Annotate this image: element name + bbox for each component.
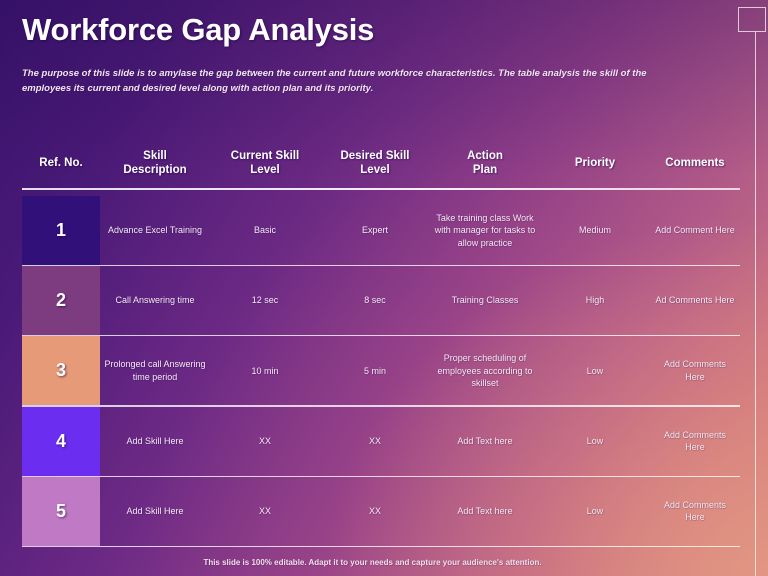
column-header-line2: Level	[250, 163, 279, 177]
table-row[interactable]: 3Prolonged call Answering time period10 …	[22, 336, 740, 405]
cell-desired-skill-level: 8 sec	[320, 266, 430, 335]
column-header-desired-skill-level: Desired Skill Level	[320, 140, 430, 186]
cell-comments: Add Comment Here	[650, 196, 740, 265]
slide-subtitle: The purpose of this slide is to amylase …	[22, 66, 672, 96]
table-row[interactable]: 5Add Skill HereXXXXAdd Text hereLowAdd C…	[22, 477, 740, 546]
cell-current-skill-level-text: XX	[214, 435, 316, 448]
cell-action-plan: Add Text here	[430, 407, 540, 476]
cell-desired-skill-level-text: Expert	[324, 224, 426, 237]
cell-skill-description: Call Answering time	[100, 266, 210, 335]
cell-skill-description-text: Add Skill Here	[104, 505, 206, 518]
cell-skill-description: Prolonged call Answering time period	[100, 336, 210, 405]
cell-action-plan: Take training class Work with manager fo…	[430, 196, 540, 265]
column-header-line1: Action	[467, 149, 503, 163]
cell-current-skill-level: Basic	[210, 196, 320, 265]
column-header-ref-no: Ref. No.	[22, 140, 100, 186]
cell-action-plan: Training Classes	[430, 266, 540, 335]
cell-comments: Add Comments Here	[650, 407, 740, 476]
table-header-row: Ref. No. Skill Description Current Skill…	[22, 140, 740, 186]
cell-current-skill-level: 12 sec	[210, 266, 320, 335]
cell-skill-description-text: Call Answering time	[104, 294, 206, 307]
cell-comments-text: Add Comments Here	[654, 499, 736, 524]
cell-desired-skill-level: XX	[320, 477, 430, 546]
cell-comments-text: Add Comment Here	[654, 224, 736, 237]
column-header-line1: Desired Skill	[340, 149, 409, 163]
column-header-line1: Priority	[575, 156, 615, 170]
cell-current-skill-level-text: 12 sec	[214, 294, 316, 307]
cell-action-plan-text: Training Classes	[434, 294, 536, 307]
row-number-badge: 4	[22, 407, 100, 476]
cell-action-plan-text: Add Text here	[434, 505, 536, 518]
row-number-badge: 1	[22, 196, 100, 265]
cell-desired-skill-level-text: 5 min	[324, 365, 426, 378]
cell-priority: Low	[540, 477, 650, 546]
cell-desired-skill-level: XX	[320, 407, 430, 476]
cell-comments: Ad Comments Here	[650, 266, 740, 335]
cell-desired-skill-level: Expert	[320, 196, 430, 265]
table-header-underline	[22, 188, 740, 190]
cell-action-plan: Add Text here	[430, 477, 540, 546]
slide-canvas: Workforce Gap Analysis The purpose of th…	[0, 0, 768, 576]
column-header-priority: Priority	[540, 140, 650, 186]
cell-priority-text: Medium	[544, 224, 646, 237]
row-number-label: 5	[56, 501, 66, 522]
cell-skill-description: Add Skill Here	[100, 407, 210, 476]
cell-comments: Add Comments Here	[650, 477, 740, 546]
cell-priority: Low	[540, 407, 650, 476]
row-number-badge: 3	[22, 336, 100, 405]
workforce-gap-table: Ref. No. Skill Description Current Skill…	[22, 140, 740, 547]
cell-priority-text: High	[544, 294, 646, 307]
column-header-line2: Plan	[473, 163, 497, 177]
column-header-skill-description: Skill Description	[100, 140, 210, 186]
cell-skill-description-text: Add Skill Here	[104, 435, 206, 448]
corner-square-decoration	[738, 7, 766, 32]
cell-current-skill-level: XX	[210, 477, 320, 546]
row-number-label: 2	[56, 290, 66, 311]
column-header-line2: Level	[360, 163, 389, 177]
cell-current-skill-level: XX	[210, 407, 320, 476]
cell-priority-text: Low	[544, 505, 646, 518]
cell-priority-text: Low	[544, 365, 646, 378]
cell-priority-text: Low	[544, 435, 646, 448]
cell-priority: Low	[540, 336, 650, 405]
table-row[interactable]: 4Add Skill HereXXXXAdd Text hereLowAdd C…	[22, 407, 740, 476]
row-number-label: 4	[56, 431, 66, 452]
row-separator	[22, 546, 740, 547]
cell-current-skill-level-text: Basic	[214, 224, 316, 237]
column-header-comments: Comments	[650, 140, 740, 186]
table-row[interactable]: 2Call Answering time12 sec8 secTraining …	[22, 266, 740, 335]
cell-priority: High	[540, 266, 650, 335]
table-body: 1Advance Excel TrainingBasicExpertTake t…	[22, 196, 740, 547]
column-header-line1: Current Skill	[231, 149, 299, 163]
cell-current-skill-level-text: XX	[214, 505, 316, 518]
cell-skill-description-text: Advance Excel Training	[104, 224, 206, 237]
column-header-line1: Ref. No.	[39, 156, 82, 170]
table-row[interactable]: 1Advance Excel TrainingBasicExpertTake t…	[22, 196, 740, 265]
cell-comments-text: Add Comments Here	[654, 358, 736, 383]
column-header-action-plan: Action Plan	[430, 140, 540, 186]
column-header-line2: Description	[123, 163, 186, 177]
page-title: Workforce Gap Analysis	[22, 12, 374, 48]
row-number-badge: 5	[22, 477, 100, 546]
cell-desired-skill-level-text: XX	[324, 435, 426, 448]
cell-skill-description: Advance Excel Training	[100, 196, 210, 265]
footer-note: This slide is 100% editable. Adapt it to…	[0, 558, 745, 567]
cell-current-skill-level-text: 10 min	[214, 365, 316, 378]
cell-action-plan-text: Proper scheduling of employees according…	[434, 352, 536, 390]
column-header-line1: Skill	[143, 149, 167, 163]
cell-action-plan: Proper scheduling of employees according…	[430, 336, 540, 405]
row-number-label: 1	[56, 220, 66, 241]
column-header-line1: Comments	[665, 156, 724, 170]
cell-skill-description-text: Prolonged call Answering time period	[104, 358, 206, 383]
column-header-current-skill-level: Current Skill Level	[210, 140, 320, 186]
corner-vertical-line-decoration	[755, 32, 756, 576]
cell-current-skill-level: 10 min	[210, 336, 320, 405]
row-number-badge: 2	[22, 266, 100, 335]
cell-action-plan-text: Take training class Work with manager fo…	[434, 212, 536, 250]
cell-comments-text: Add Comments Here	[654, 429, 736, 454]
cell-skill-description: Add Skill Here	[100, 477, 210, 546]
cell-action-plan-text: Add Text here	[434, 435, 536, 448]
row-number-label: 3	[56, 360, 66, 381]
cell-comments-text: Ad Comments Here	[654, 294, 736, 307]
cell-priority: Medium	[540, 196, 650, 265]
cell-desired-skill-level-text: 8 sec	[324, 294, 426, 307]
cell-comments: Add Comments Here	[650, 336, 740, 405]
cell-desired-skill-level-text: XX	[324, 505, 426, 518]
cell-desired-skill-level: 5 min	[320, 336, 430, 405]
